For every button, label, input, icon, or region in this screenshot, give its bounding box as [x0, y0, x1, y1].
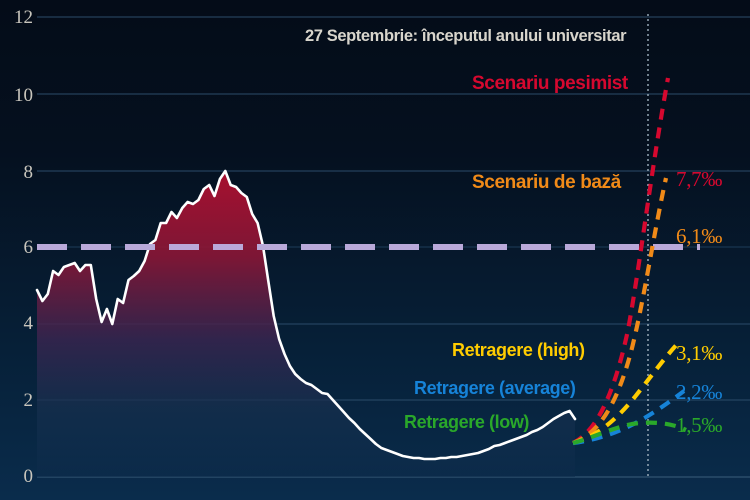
value-label-high: 3,1‰ [676, 341, 722, 366]
forecast-line-average [573, 391, 684, 443]
annotation-retragere-high: Retragere (high) [452, 340, 585, 361]
value-label-average: 2,2‰ [676, 380, 722, 405]
forecast-line-baseline [573, 178, 666, 443]
plot-area [0, 0, 750, 500]
annotation-retragere-average: Retragere (average) [414, 378, 575, 399]
annotation-scenariu-pesimist: Scenariu pesimist [472, 73, 628, 95]
event-annotation-label: 27 Septembrie: începutul anului universi… [305, 27, 626, 46]
value-label-low: 1,5‰ [676, 413, 722, 438]
annotation-retragere-low: Retragere (low) [404, 412, 529, 433]
annotation-scenariu-de-baza: Scenariu de bază [472, 172, 621, 194]
value-label-baseline: 6,1‰ [676, 224, 722, 249]
chart-container: 12 10 8 6 4 2 0 [0, 0, 750, 500]
value-label-pessimistic: 7,7‰ [676, 167, 722, 192]
forecast-line-pessimistic [573, 78, 668, 443]
